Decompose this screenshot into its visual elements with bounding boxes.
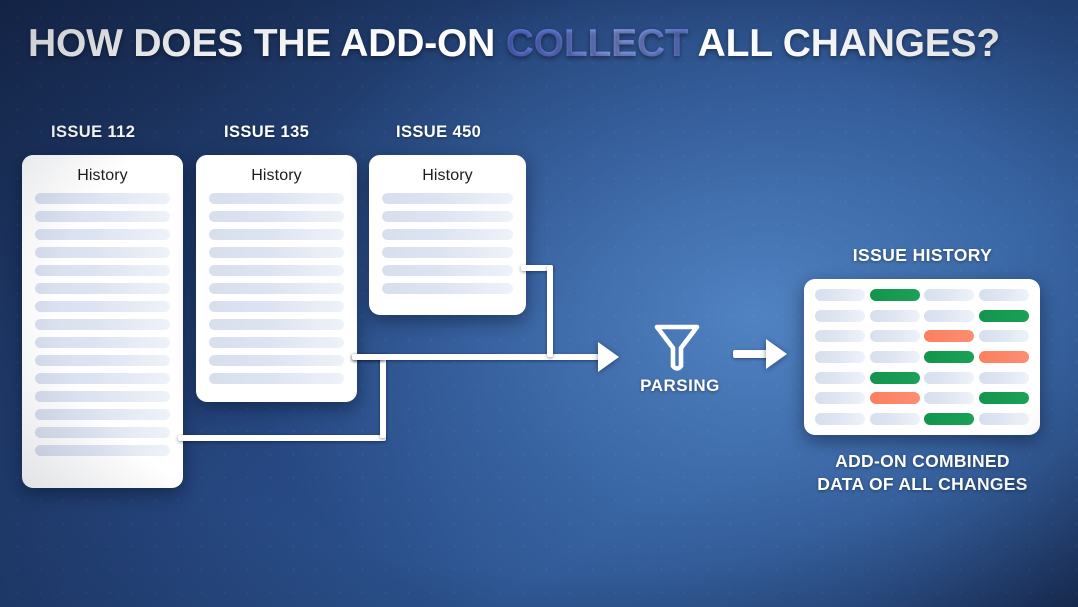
grid-cell-neutral bbox=[815, 330, 865, 342]
history-rows-112 bbox=[22, 193, 183, 469]
grid-cell-green bbox=[979, 310, 1029, 322]
grid-row bbox=[815, 372, 1029, 384]
history-row bbox=[209, 355, 344, 366]
history-row bbox=[382, 229, 513, 240]
result-heading: ISSUE HISTORY bbox=[790, 245, 1055, 266]
history-row bbox=[35, 283, 170, 294]
grid-cell-neutral bbox=[924, 392, 974, 404]
grid-row bbox=[815, 310, 1029, 322]
history-row bbox=[35, 337, 170, 348]
card-title-112: History bbox=[22, 155, 183, 193]
card-title-450: History bbox=[369, 155, 526, 193]
grid-cell-neutral bbox=[815, 310, 865, 322]
title-part-2: ALL CHANGES? bbox=[688, 22, 1000, 65]
history-row bbox=[209, 373, 344, 384]
grid-cell-neutral bbox=[870, 310, 920, 322]
arrow-to-parsing bbox=[598, 342, 619, 372]
history-row bbox=[35, 211, 170, 222]
grid-cell-orange bbox=[979, 351, 1029, 363]
history-row bbox=[35, 301, 170, 312]
parsing-label: PARSING bbox=[600, 376, 760, 396]
result-caption: ADD-ON COMBINED DATA OF ALL CHANGES bbox=[780, 450, 1065, 496]
title-highlight-collect: COLLECT bbox=[506, 22, 689, 65]
history-row bbox=[35, 247, 170, 258]
issue-card-112[interactable]: History bbox=[22, 155, 183, 488]
history-row bbox=[382, 247, 513, 258]
grid-row bbox=[815, 413, 1029, 425]
history-row bbox=[209, 283, 344, 294]
history-row bbox=[209, 301, 344, 312]
history-row bbox=[209, 229, 344, 240]
history-row bbox=[35, 193, 170, 204]
grid-cell-neutral bbox=[870, 330, 920, 342]
grid-cell-neutral bbox=[979, 289, 1029, 301]
issue-card-450[interactable]: History bbox=[369, 155, 526, 315]
history-row bbox=[35, 355, 170, 366]
history-row bbox=[382, 211, 513, 222]
history-rows-135 bbox=[196, 193, 357, 397]
grid-cell-green bbox=[979, 392, 1029, 404]
issue-label-135: ISSUE 135 bbox=[224, 123, 309, 142]
grid-cell-neutral bbox=[924, 310, 974, 322]
history-row bbox=[35, 427, 170, 438]
grid-row bbox=[815, 289, 1029, 301]
card-title-135: History bbox=[196, 155, 357, 193]
page-title: HOW DOES THE ADD-ON COLLECT ALL CHANGES? bbox=[28, 22, 1048, 66]
connector-trunk bbox=[352, 354, 604, 360]
grid-cell-neutral bbox=[815, 289, 865, 301]
history-row bbox=[209, 265, 344, 276]
grid-cell-neutral bbox=[815, 372, 865, 384]
history-row bbox=[382, 193, 513, 204]
grid-cell-neutral bbox=[815, 413, 865, 425]
grid-cell-neutral bbox=[924, 289, 974, 301]
grid-cell-neutral bbox=[815, 392, 865, 404]
history-row bbox=[35, 445, 170, 456]
history-row bbox=[209, 193, 344, 204]
history-row bbox=[35, 265, 170, 276]
issue-label-112: ISSUE 112 bbox=[51, 123, 135, 142]
grid-cell-neutral bbox=[815, 351, 865, 363]
grid-cell-green bbox=[870, 372, 920, 384]
history-row bbox=[209, 247, 344, 258]
grid-row bbox=[815, 351, 1029, 363]
issue-history-grid[interactable] bbox=[804, 279, 1040, 435]
history-row bbox=[35, 229, 170, 240]
grid-cell-neutral bbox=[979, 372, 1029, 384]
diagram-canvas: HOW DOES THE ADD-ON COLLECT ALL CHANGES?… bbox=[0, 0, 1078, 607]
connector-450-vertical bbox=[547, 265, 553, 357]
grid-row bbox=[815, 392, 1029, 404]
arrow-to-result-head bbox=[766, 339, 787, 369]
history-row bbox=[209, 211, 344, 222]
history-row bbox=[209, 319, 344, 330]
history-row bbox=[35, 373, 170, 384]
history-row bbox=[382, 283, 513, 294]
grid-cell-neutral bbox=[924, 372, 974, 384]
grid-cell-green bbox=[870, 289, 920, 301]
grid-row bbox=[815, 330, 1029, 342]
grid-cell-orange bbox=[870, 392, 920, 404]
history-row bbox=[382, 265, 513, 276]
result-caption-line-2: DATA OF ALL CHANGES bbox=[817, 474, 1028, 494]
grid-cell-neutral bbox=[979, 413, 1029, 425]
issue-card-135[interactable]: History bbox=[196, 155, 357, 402]
history-row bbox=[35, 409, 170, 420]
funnel-icon bbox=[653, 322, 701, 379]
grid-cell-green bbox=[924, 351, 974, 363]
grid-cell-green bbox=[924, 413, 974, 425]
result-caption-line-1: ADD-ON COMBINED bbox=[835, 451, 1010, 471]
grid-cell-orange bbox=[924, 330, 974, 342]
grid-cell-neutral bbox=[870, 351, 920, 363]
issue-label-450: ISSUE 450 bbox=[396, 123, 481, 142]
history-row bbox=[35, 319, 170, 330]
connector-112-horizontal bbox=[178, 435, 386, 441]
grid-cell-neutral bbox=[870, 413, 920, 425]
history-rows-450 bbox=[369, 193, 526, 307]
history-row bbox=[35, 391, 170, 402]
connector-112-vertical bbox=[380, 354, 386, 438]
title-part-1: HOW DOES THE ADD-ON bbox=[28, 22, 506, 65]
history-row bbox=[209, 337, 344, 348]
grid-cell-neutral bbox=[979, 330, 1029, 342]
